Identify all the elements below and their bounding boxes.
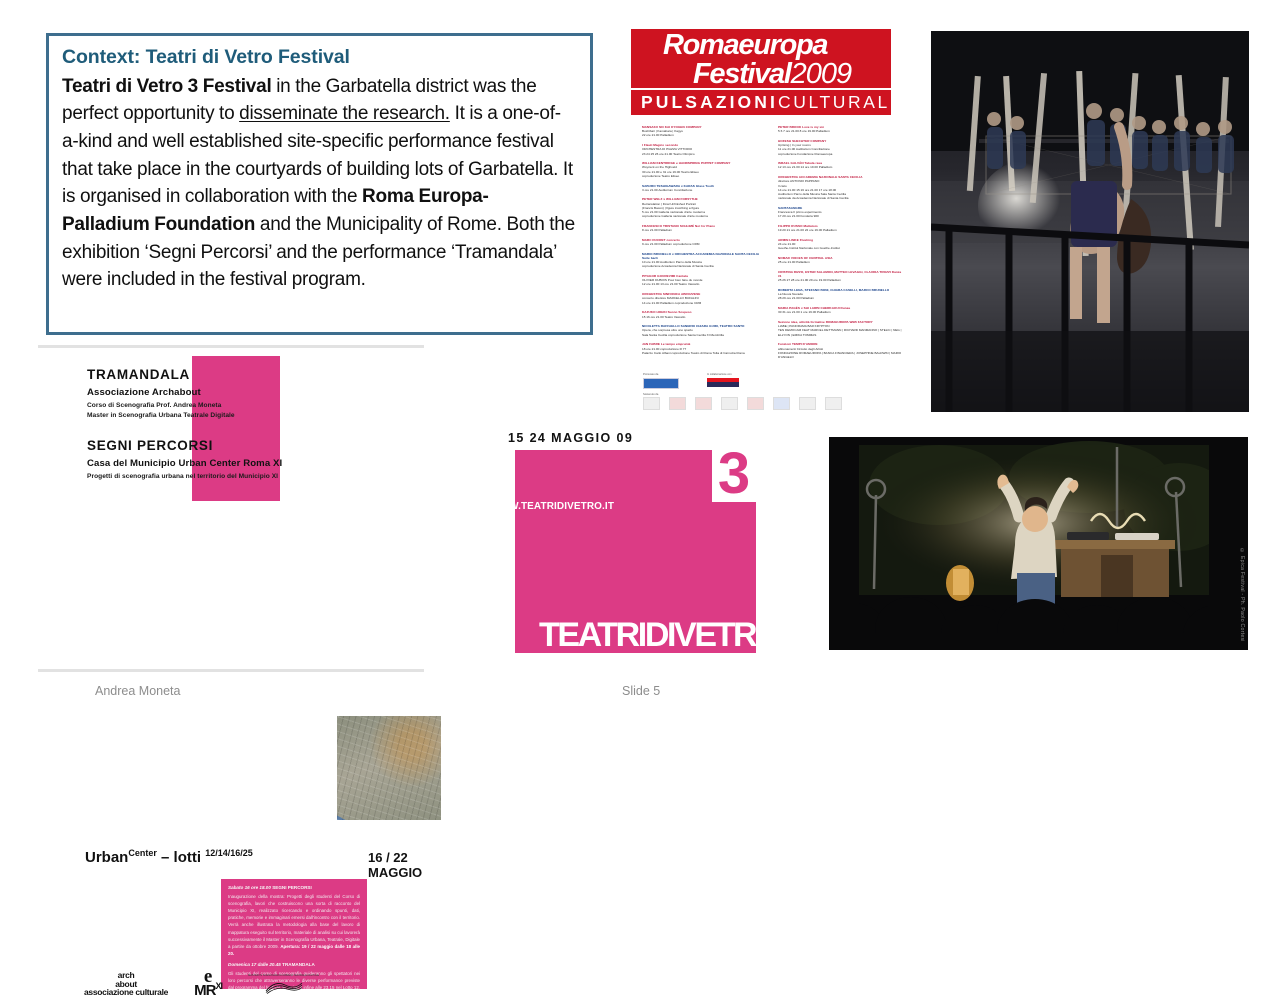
lot-numbers: 12/14/16/25: [205, 848, 253, 858]
flyer-date-range: 16 / 22 MAGGIO: [368, 850, 424, 880]
program-entry: Sezione idee, attività formative ROMAEUR…: [778, 320, 903, 337]
program-entry: NICOLETTA RAFFAELLO SANERIO CHIARA GUIDI…: [642, 324, 767, 337]
lotti-word: – lotti: [157, 849, 205, 866]
flyer-org-archabout: Associazione Archabout: [87, 387, 292, 398]
master-scenografia-logo: MASTER IN SCENOGRAFIA URBANA TEATRALE DI…: [248, 974, 319, 994]
tdv-website-url: WWW.TEATRIDIVETRO.IT: [490, 501, 614, 512]
program-entry-line: TEN DEMOCAM FEAT MARCEL DETTMANN | RICHA…: [778, 328, 903, 336]
program-entry: SABURO TESHIGAWARA x KARAS Glass Tooth3 …: [642, 184, 767, 192]
program-entry-line: coproduzione Fondazione Romaeuropa: [778, 152, 903, 156]
program-entry: JAN FABRE Le tempo emprunté18 ore 21.00 …: [642, 342, 767, 355]
context-body: Teatri di Vetro 3 Festival in the Garbat…: [62, 73, 576, 294]
flyer-spacer: [87, 421, 292, 438]
program-entry-line: Goethe-Institut Nazionale con Goethe-Ins…: [778, 246, 903, 250]
program-entry: SANTASANGREFrancesca II primo esperiment…: [778, 206, 903, 219]
romaeuropa-program-column-left: MANSAKU NO KAI KYOGEN COMPANYBoshibari |…: [642, 125, 767, 365]
program-entry: PETER WELZ x WILLIAM FORSYTHERetranslati…: [642, 197, 767, 218]
mrxi-e-glyph: e: [204, 970, 212, 983]
program-entry-line: 22 ore 21.00 Palladium: [642, 133, 767, 137]
program-entry: Funzioni TEMPI D’AMOREabbonamenti Circui…: [778, 342, 903, 359]
photo-credit: © Epica Festival - Ph. Paolo Cortesi: [1239, 548, 1245, 642]
program-entry-line: Sala Santa Cecilia coproduzione Santa Ce…: [642, 333, 767, 337]
program-entry-line: 15 16 ore 21.00 Teatro Vascello: [642, 315, 767, 319]
sponsor-mini-logo-4: [721, 397, 738, 410]
romaeuropa-title-block: Romaeuropa Festival2009: [641, 32, 887, 89]
program-entry-title: CRISTINA RIZZO, ESTER SALAMON, MATTEO LE…: [778, 270, 903, 278]
performance-photo-dancers: [931, 31, 1249, 412]
photo-top-graphic: [931, 31, 1249, 412]
sponsor-label-tech: In collaborazione con: [707, 373, 739, 376]
program-entry: NOMAD VOICES OF CENTRAL ASIA25 ore 21.00…: [778, 256, 903, 264]
flyer-title-tramandala: TRAMANDALA: [87, 367, 292, 382]
center-word: Center: [128, 848, 157, 858]
program-entry-line: FONDAZIONE ROMAEUROPA | BANCA FINANCIERA…: [778, 351, 903, 359]
program-entry: ROBERTA LENA, STEFANO BONI, CHIARA CASEL…: [778, 288, 903, 301]
program-entry-line: 19 20 21 ore 21.00 22 ore 19.00 Palladiu…: [778, 228, 903, 232]
program-entry: I Flauti Magico secondoORCHESTRA DI PIAZ…: [642, 143, 767, 156]
program-entry-line: 3 ore 21.00 Auditorium Conciliazione: [642, 188, 767, 192]
program-entry: MARIO BRUNELLO x ORCHESTRA ACCADEMIA NAZ…: [642, 252, 767, 269]
program-entry: FRANCESCO TRISTANO SCHLIMÉ Not for Piano…: [642, 224, 767, 232]
tdv-date-range: 15 24 MAGGIO 09: [508, 431, 633, 445]
program-entry: FILIPPO RUSSO Mattatoio19 20 21 ore 21.0…: [778, 224, 903, 232]
tdv-logotype: TEATRIDIVETRO: [539, 618, 756, 652]
sponsor-mini-logo-1: [643, 397, 660, 410]
program-entry: KAZUKO HOHKI Suono Sospeso15 16 ore 21.0…: [642, 310, 767, 318]
program-entry: ARMIN LINKE Flushing24 ore 21.00Goethe-I…: [778, 238, 903, 251]
flyer-title-segni-percorsi: SEGNI PERCORSI: [87, 438, 292, 453]
romaeuropa-red-header: Romaeuropa Festival2009 PULSAZIONICULTUR…: [631, 29, 891, 115]
teatridivetro-poster: 15 24 MAGGIO 09 3 TEATRIDIVETRO WWW.TEAT…: [490, 428, 756, 653]
tdv-pink-field: 3 TEATRIDIVETRO: [515, 450, 756, 653]
archabout-line1: arch: [118, 971, 135, 980]
program-entry-line: 28 29 ore 21.00 Palladium: [778, 296, 903, 300]
mrxi-logo: e MRXI: [194, 970, 222, 998]
sponsor-mini-logo-8: [825, 397, 842, 410]
program-entry-line: coproduzione Accademia Nazionale di Sant…: [642, 264, 767, 268]
mrxi-text: MRXI: [194, 983, 222, 998]
program-entry-line: 30 31 ore 21.00 1 ore 19.00 Palladium: [778, 310, 903, 314]
romaeuropa-festival-word: Festival: [693, 58, 791, 90]
slide-footer: Andrea Moneta Slide 5: [0, 676, 1280, 720]
sponsor-mini-logo-6: [773, 397, 790, 410]
mrxi-xi: XI: [215, 981, 222, 991]
program-entry-line: 12 13 ore 21.00 14 ore 19.00 Palladium: [778, 165, 903, 169]
pink-heading-1-title: SEGNI PERCORSI: [272, 885, 312, 890]
pink-heading-2-date: Domenica 17 dalle 20.45: [228, 962, 282, 967]
program-entry: MANSAKU NO KAI KYOGEN COMPANYBoshibari |…: [642, 125, 767, 138]
wave-lines-icon: [265, 978, 303, 994]
sponsor-label-support: Sostenuto da: [643, 393, 893, 396]
sponsor-mini-logo-2: [669, 397, 686, 410]
romaeuropa-subtitle: PULSAZIONICULTURALI: [631, 88, 891, 115]
program-entry: WILLIAM KENTRIDGE e HANDSPRING PUPPET CO…: [642, 161, 767, 178]
program-entry-line: 25 ore 21.00 Palladium: [778, 260, 903, 264]
flyer-urban-center-lots: UrbanCenter – lotti 12/14/16/25: [85, 848, 253, 866]
photo-bottom-graphic: [829, 437, 1248, 650]
romaeuropa-subtitle-bold: PULSAZIONI: [641, 92, 778, 113]
pink-paragraph-1: Inaugurazione della mostra: Progetti deg…: [228, 893, 360, 957]
romaeuropa-festival-poster: Romaeuropa Festival2009 PULSAZIONICULTUR…: [631, 29, 920, 411]
romaeuropa-title-line2: Festival2009: [641, 61, 887, 89]
sponsor-mini-logo-7: [799, 397, 816, 410]
program-entry: MARIA PAGÉS x SHI LARBI CHERKAOUI Dunas3…: [778, 306, 903, 314]
program-entry: ORCHESTRA ACCADEMIA NAZIONALE SANTA CECI…: [778, 175, 903, 200]
pink-heading-2-title: TRAMANDALA: [282, 962, 315, 967]
flyer-sub1-line2: Master in Scenografia Urbana Teatrale Di…: [87, 411, 292, 421]
romaeuropa-title-line1: Romaeuropa: [641, 32, 887, 60]
flyer-sub1-line1: Corso di Scenografia Prof. Andrea Moneta: [87, 401, 292, 411]
archabout-tagline: associazione culturale: [84, 988, 168, 997]
sponsor-logo-telecom: [707, 378, 739, 387]
program-entry-line: nazionale da Accademia Nazionale di Sant…: [778, 196, 903, 200]
program-entry-line: 25 26 27 28 ore 21.00 29 ore 19.00 Palla…: [778, 278, 903, 282]
program-entry: PETER BROOK Love is my sin5 6 7 ore 21.0…: [778, 125, 903, 133]
program-entry-line: Palazzo Carlo Albani coproduzione Teatro…: [642, 351, 767, 355]
program-entry: PITAGOR GOUREVIMI CantataOLIVIER DUBOIS …: [642, 274, 767, 287]
program-entry-line: 12 ore 21.00 13 ore 21.00 Teatro Vascell…: [642, 282, 767, 286]
pink-heading-1: Sabato 16 ore 18.00 SEGNI PERCORSI: [228, 885, 360, 892]
romaeuropa-subtitle-thin: CULTURALI: [778, 92, 897, 113]
tdv-edition-number: 3: [714, 451, 754, 505]
program-entry-line: coproduzione Teatro Eliseo: [642, 174, 767, 178]
sponsor-logo-main: [643, 378, 679, 389]
archabout-logo: arch about associazione culturale: [84, 971, 168, 997]
pink-heading-1-date: Sabato 16 ore 18.00: [228, 885, 272, 890]
romaeuropa-program-column-right: PETER BROOK Love is my sin5 6 7 ore 21.0…: [778, 125, 903, 365]
context-bold-lead: Teatri di Vetro 3 Festival: [62, 76, 271, 97]
sponsor-mini-logo-3: [695, 397, 712, 410]
performance-photo-actor-table: © Epica Festival - Ph. Paolo Cortesi: [829, 437, 1248, 650]
context-title: Context: Teatri di Vetro Festival: [62, 45, 576, 71]
sponsor-label-main: Promosso da: [643, 373, 679, 376]
pink-heading-2: Domenica 17 dalle 20.45 TRAMANDALA: [228, 962, 360, 969]
program-entry: ORCHESTRA SINFONICA ABRUZZESEconcerto di…: [642, 292, 767, 305]
romaeuropa-year: 2009: [791, 58, 852, 90]
master-logo-caption: MASTER IN SCENOGRAFIA URBANA TEATRALE DI…: [248, 974, 319, 977]
context-text-box: Context: Teatri di Vetro Festival Teatri…: [46, 33, 593, 335]
program-entry-line: 8 ore 21.00 Palladium: [642, 228, 767, 232]
archabout-line2: about: [115, 980, 137, 989]
program-entry-line: 23 24 25 26 ore 21.00 Teatro Olimpico: [642, 152, 767, 156]
tramandala-flyer: TRAMANDALA Associazione Archabout Corso …: [38, 345, 424, 672]
program-entry: ISRAEL GALVÁN Tabula rasa12 13 ore 21.00…: [778, 161, 903, 169]
program-entry-line: 17 20 ore 21.00 Fonderia 900: [778, 214, 903, 218]
sponsor-mini-logo-5: [747, 397, 764, 410]
sponsor-logo-row: [643, 397, 893, 410]
footer-slide-number: Slide 5: [622, 684, 660, 698]
flyer-text-block: TRAMANDALA Associazione Archabout Corso …: [87, 367, 292, 483]
aerial-map-image: [337, 716, 441, 820]
mrxi-mr: MR: [194, 982, 215, 999]
slide-canvas: Context: Teatri di Vetro Festival Teatri…: [0, 0, 1280, 720]
program-entry-line: 14 ore 21.00 Palladium coproduzione CRM: [642, 301, 767, 305]
urban-word: Urban: [85, 849, 128, 866]
footer-author: Andrea Moneta: [95, 684, 180, 698]
program-entry-line: coproduzione Galleria nazionale d’arte m…: [642, 214, 767, 218]
program-entry-line: 5 6 7 ore 21.00 8 ore 19.00 Palladium: [778, 129, 903, 133]
program-entry: HOFESH SHECHTER COMPANYUprising | In you…: [778, 139, 903, 156]
program-entry-line: 9 ore 21.00 Palladium coproduzione CRM: [642, 242, 767, 246]
romaeuropa-sponsor-strip: Promosso da In collaborazione con Sosten…: [643, 373, 893, 410]
program-entry-title: MARIO BRUNELLO x ORCHESTRA ACCADEMIA NAZ…: [642, 252, 767, 260]
romaeuropa-program-columns: MANSAKU NO KAI KYOGEN COMPANYBoshibari |…: [642, 125, 910, 365]
context-underlined-phrase: disseminate the research.: [239, 103, 450, 124]
pink-paragraph-1-text: Inaugurazione della mostra: Progetti deg…: [228, 894, 360, 949]
flyer-sub2: Progetti di scenografia urbana nel terri…: [87, 472, 292, 482]
flyer-org-urban-center: Casa del Municipio Urban Center Roma XI: [87, 458, 292, 469]
program-entry: MARC DUCRET concerto9 ore 21.00 Palladiu…: [642, 238, 767, 246]
flyer-logo-row: arch about associazione culturale e MRXI…: [84, 970, 319, 998]
program-entry: CRISTINA RIZZO, ESTER SALAMON, MATTEO LE…: [778, 270, 903, 283]
